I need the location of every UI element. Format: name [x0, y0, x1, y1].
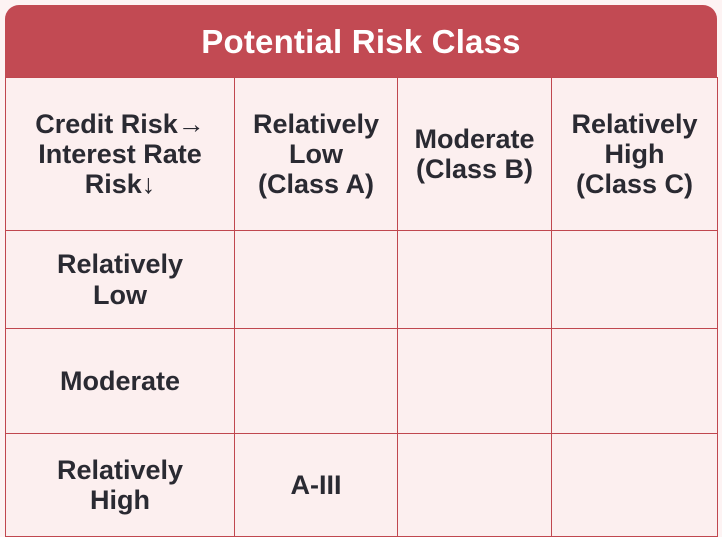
- axis-credit-risk-text: Credit Risk: [35, 109, 178, 139]
- cell-high-classC[interactable]: [552, 434, 718, 537]
- cell-moderate-classB[interactable]: [398, 329, 552, 434]
- arrow-down-icon: ↓: [142, 169, 156, 199]
- column-header-class-b: Moderate (Class B): [398, 78, 552, 231]
- column-header-class-a-line2: Low: [239, 139, 393, 169]
- row-header-moderate-line1: Moderate: [10, 366, 230, 396]
- axis-interest-rate-label: Interest Rate: [10, 139, 230, 169]
- row-header-relatively-high: Relatively High: [6, 434, 235, 537]
- column-header-class-b-line3: (Class B): [402, 154, 547, 184]
- cell-moderate-classC[interactable]: [552, 329, 718, 434]
- column-header-class-a: Relatively Low (Class A): [235, 78, 398, 231]
- axis-risk-text: Risk: [85, 169, 142, 199]
- row-header-relatively-low-line1: Relatively: [10, 249, 230, 279]
- row-header-relatively-low: Relatively Low: [6, 231, 235, 329]
- cell-low-classC[interactable]: [552, 231, 718, 329]
- risk-class-table: Credit Risk→ Interest Rate Risk↓ Relativ…: [5, 77, 718, 537]
- page-title: Potential Risk Class: [201, 25, 520, 58]
- cell-moderate-classA[interactable]: [235, 329, 398, 434]
- column-header-class-c-line1: Relatively: [556, 109, 713, 139]
- cell-low-classA[interactable]: [235, 231, 398, 329]
- cell-low-classB[interactable]: [398, 231, 552, 329]
- column-header-class-a-line1: Relatively: [239, 109, 393, 139]
- table-row: Moderate: [6, 329, 718, 434]
- column-header-class-c-line3: (Class C): [556, 169, 713, 199]
- table-row: Relatively Low: [6, 231, 718, 329]
- matrix-title-banner: Potential Risk Class: [5, 5, 717, 77]
- axis-legend-cell: Credit Risk→ Interest Rate Risk↓: [6, 78, 235, 231]
- cell-high-classB[interactable]: [398, 434, 552, 537]
- table-header-row: Credit Risk→ Interest Rate Risk↓ Relativ…: [6, 78, 718, 231]
- row-header-relatively-low-line2: Low: [10, 280, 230, 310]
- axis-risk-label: Risk↓: [10, 169, 230, 199]
- column-header-class-c: Relatively High (Class C): [552, 78, 718, 231]
- column-header-class-a-line3: (Class A): [239, 169, 393, 199]
- potential-risk-class-matrix: Potential Risk Class Credit Risk→ Intere…: [0, 0, 722, 522]
- row-header-relatively-high-line1: Relatively: [10, 455, 230, 485]
- cell-high-classA[interactable]: A-III: [235, 434, 398, 537]
- table-row: Relatively High A-III: [6, 434, 718, 537]
- arrow-right-icon: →: [178, 109, 205, 139]
- axis-credit-risk-label: Credit Risk→: [10, 109, 230, 139]
- column-header-class-b-line2: Moderate: [402, 124, 547, 154]
- column-header-class-c-line2: High: [556, 139, 713, 169]
- row-header-moderate: Moderate: [6, 329, 235, 434]
- row-header-relatively-high-line2: High: [10, 485, 230, 515]
